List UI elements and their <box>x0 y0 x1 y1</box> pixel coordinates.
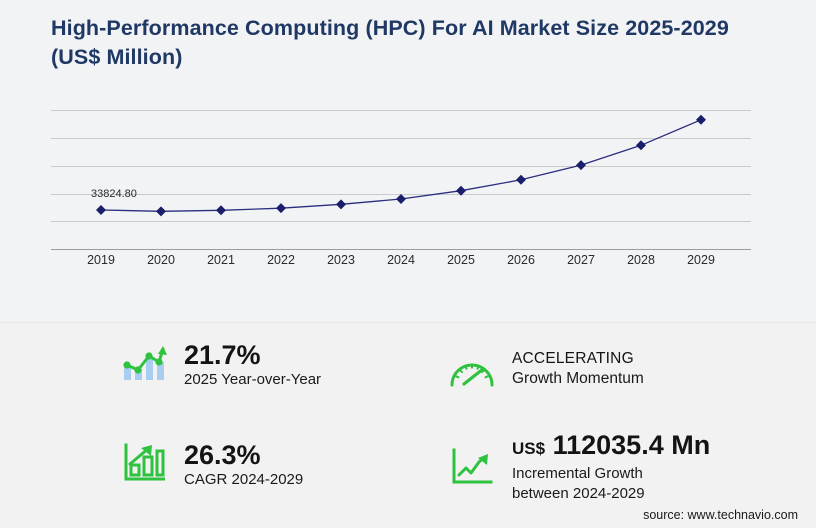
x-tick-2022: 2022 <box>267 253 295 267</box>
x-tick-2023: 2023 <box>327 253 355 267</box>
stat-caption-line2: between 2024-2029 <box>512 484 710 504</box>
stat-growth-momentum: ACCELERATING Growth Momentum <box>446 348 644 394</box>
source-attribution: source: www.technavio.com <box>643 508 798 522</box>
data-point-2023 <box>336 199 346 209</box>
panel-divider <box>0 322 816 323</box>
x-tick-2028: 2028 <box>627 253 655 267</box>
x-tick-2029: 2029 <box>687 253 715 267</box>
stat-value: 26.3% <box>184 440 303 470</box>
stat-year-over-year: 21.7% 2025 Year-over-Year <box>118 340 321 390</box>
data-point-label-2019: 33824.80 <box>91 188 137 200</box>
x-tick-2027: 2027 <box>567 253 595 267</box>
data-point-2025 <box>456 186 466 196</box>
page-title: High-Performance Computing (HPC) For AI … <box>51 14 751 72</box>
stat-value: 21.7% <box>184 340 321 370</box>
x-tick-2021: 2021 <box>207 253 235 267</box>
line-series <box>51 90 751 250</box>
data-point-2021 <box>216 205 226 215</box>
data-point-2029 <box>696 115 706 125</box>
x-tick-2026: 2026 <box>507 253 535 267</box>
stat-cagr: 26.3% CAGR 2024-2029 <box>118 440 303 490</box>
data-point-2019 <box>96 205 106 215</box>
line-chart-arrow-icon <box>446 444 498 490</box>
x-tick-2025: 2025 <box>447 253 475 267</box>
bar-chart-arrow-icon <box>118 440 170 486</box>
x-tick-2024: 2024 <box>387 253 415 267</box>
data-point-2020 <box>156 206 166 216</box>
stat-caption-line1: Incremental Growth <box>512 464 710 484</box>
stat-incremental-growth: US$ 112035.4 Mn Incremental Growth betwe… <box>446 430 710 504</box>
x-axis-tick-labels: 2019202020212022202320242025202620272028… <box>51 253 751 277</box>
stat-amount: 112035.4 Mn <box>553 430 711 460</box>
data-point-2026 <box>516 175 526 185</box>
chart-plot-area: 33824.80 <box>51 90 751 250</box>
data-point-2024 <box>396 194 406 204</box>
x-tick-2019: 2019 <box>87 253 115 267</box>
data-point-2028 <box>636 140 646 150</box>
stat-value: US$ 112035.4 Mn <box>512 430 710 464</box>
stat-headline: ACCELERATING <box>512 348 644 369</box>
x-tick-2020: 2020 <box>147 253 175 267</box>
stat-caption: 2025 Year-over-Year <box>184 370 321 390</box>
stat-caption: Growth Momentum <box>512 369 644 389</box>
data-point-2022 <box>276 203 286 213</box>
chart-container: 33824.80 2019202020212022202320242025202… <box>0 90 816 280</box>
infographic-page: High-Performance Computing (HPC) For AI … <box>0 0 816 528</box>
growth-bars-line-icon <box>118 340 170 386</box>
stat-caption: CAGR 2024-2029 <box>184 470 303 490</box>
stat-unit: US$ <box>512 439 545 458</box>
data-point-2027 <box>576 160 586 170</box>
speedometer-icon <box>446 348 498 394</box>
